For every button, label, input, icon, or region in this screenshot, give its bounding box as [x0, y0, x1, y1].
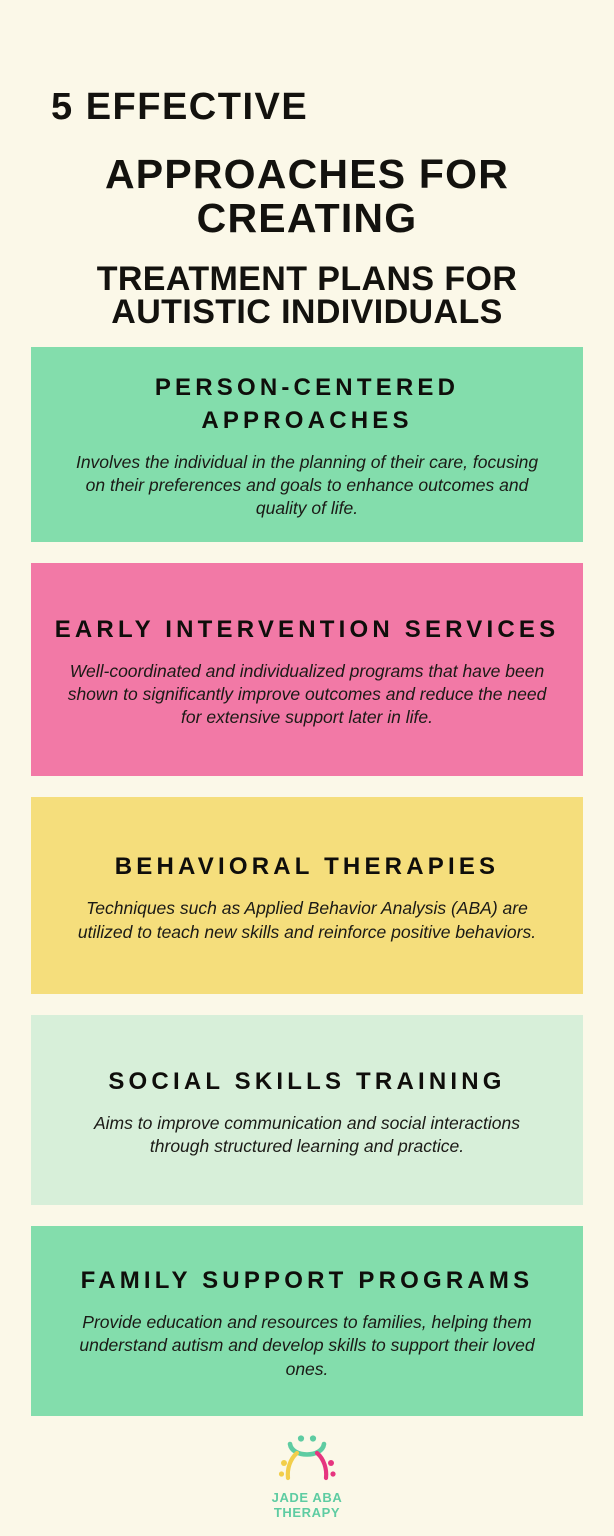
title-line-1: 5 EFFECTIVE — [51, 88, 583, 126]
jade-aba-person-smile-logo-icon — [272, 1432, 342, 1488]
approach-card-title: SOCIAL SKILLS TRAINING — [108, 1066, 505, 1098]
header-block: 5 EFFECTIVE APPROACHES FOR CREATING TREA… — [0, 0, 614, 329]
approach-card-body: Involves the individual in the planning … — [67, 451, 547, 521]
title-line-3a: TREATMENT PLANS FOR — [97, 260, 518, 298]
approach-card-list: PERSON-CENTERED APPROACHES Involves the … — [31, 347, 583, 1437]
approach-card: BEHAVIORAL THERAPIES Techniques such as … — [31, 797, 583, 994]
approach-card-body: Techniques such as Applied Behavior Anal… — [67, 897, 547, 944]
title-line-3b: AUTISTIC INDIVIDUALS — [111, 293, 502, 331]
approach-card: EARLY INTERVENTION SERVICES Well-coordin… — [31, 563, 583, 776]
title-line-2: APPROACHES FOR CREATING — [31, 152, 583, 241]
approach-card-title: PERSON-CENTERED APPROACHES — [53, 372, 561, 436]
approach-card-title: FAMILY SUPPORT PROGRAMS — [81, 1265, 534, 1297]
title-line-3: TREATMENT PLANS FOR AUTISTIC INDIVIDUALS — [31, 263, 583, 330]
footer-branding: JADE ABA THERAPY — [0, 1432, 614, 1521]
infographic-page: 5 EFFECTIVE APPROACHES FOR CREATING TREA… — [0, 0, 614, 1536]
approach-card: FAMILY SUPPORT PROGRAMS Provide educatio… — [31, 1226, 583, 1416]
logo-wordmark-line2: THERAPY — [272, 1505, 343, 1520]
approach-card-body: Aims to improve communication and social… — [67, 1112, 547, 1159]
approach-card-body: Well-coordinated and individualized prog… — [67, 660, 547, 730]
approach-card-title: EARLY INTERVENTION SERVICES — [55, 614, 560, 646]
approach-card: SOCIAL SKILLS TRAINING Aims to improve c… — [31, 1015, 583, 1205]
logo-wordmark-line1: JADE ABA — [272, 1490, 343, 1505]
approach-card: PERSON-CENTERED APPROACHES Involves the … — [31, 347, 583, 542]
approach-card-body: Provide education and resources to famil… — [67, 1311, 547, 1381]
approach-card-title: BEHAVIORAL THERAPIES — [115, 851, 499, 883]
logo-wordmark: JADE ABA THERAPY — [272, 1490, 343, 1521]
